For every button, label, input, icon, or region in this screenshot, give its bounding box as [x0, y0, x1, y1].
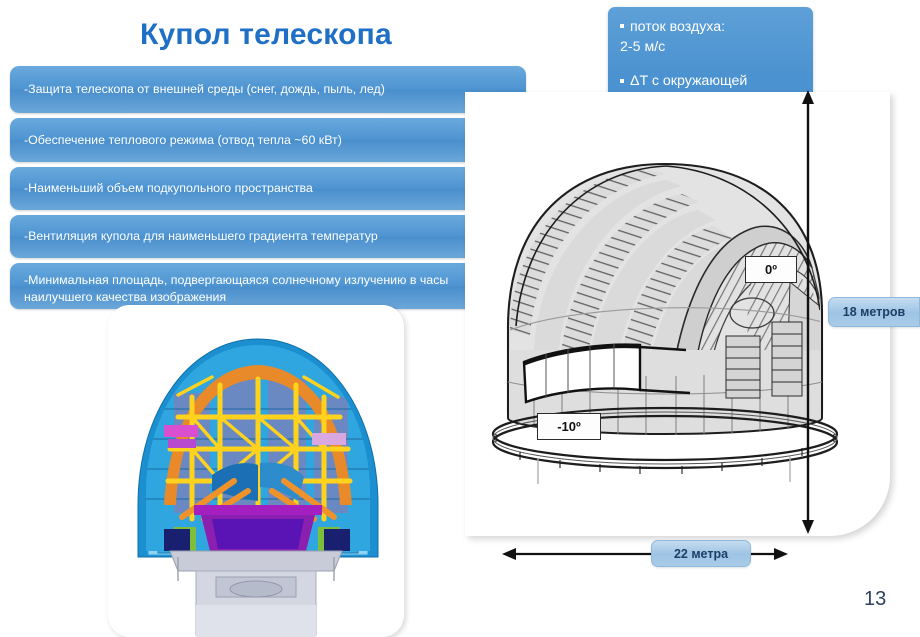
callout-line-airflow: поток воздуха: — [620, 17, 801, 37]
bullet-text: -Наименьший объем подкупольного простран… — [24, 180, 313, 197]
bullet-text: -Минимальная площадь, подвергающаяся сол… — [24, 272, 512, 305]
bullet-item-protection[interactable]: -Защита телескопа от внешней среды (снег… — [10, 66, 526, 113]
callout-line-deltat: ΔT с окружающей — [620, 71, 801, 91]
bullet-item-thermal[interactable]: -Обеспечение теплового режима (отвод теп… — [10, 118, 526, 162]
telescope-cutaway-image — [108, 305, 404, 637]
page-title: Купол телескопа — [140, 18, 392, 52]
angle-label-minus-ten: -10º — [537, 413, 601, 440]
height-dimension-arrow — [797, 88, 819, 536]
bullet-item-solar-area[interactable]: -Минимальная площадь, подвергающаяся сол… — [10, 263, 526, 309]
angle-label-zero: 0º — [745, 256, 797, 283]
page-number: 13 — [864, 588, 886, 611]
callout-line-airflow-value: 2-5 м/с — [620, 37, 801, 57]
bullet-text: -Защита телескопа от внешней среды (снег… — [24, 81, 385, 98]
bullet-text: -Обеспечение теплового режима (отвод теп… — [24, 132, 342, 149]
width-dimension-badge[interactable]: 22 метра — [651, 540, 751, 567]
height-dimension-badge[interactable]: 18 метров — [828, 297, 920, 327]
slide-canvas: Купол телескопа -Защита телескопа от вне… — [0, 0, 920, 637]
square-bullet-icon — [620, 79, 624, 83]
square-bullet-icon — [620, 24, 624, 28]
bullet-list: -Защита телескопа от внешней среды (снег… — [10, 66, 526, 314]
bullet-item-ventilation[interactable]: -Вентиляция купола для наименьшего гради… — [10, 215, 526, 258]
callout-spacer — [620, 57, 801, 71]
bullet-text: -Вентиляция купола для наименьшего гради… — [24, 228, 378, 245]
bullet-item-volume[interactable]: -Наименьший объем подкупольного простран… — [10, 167, 526, 210]
